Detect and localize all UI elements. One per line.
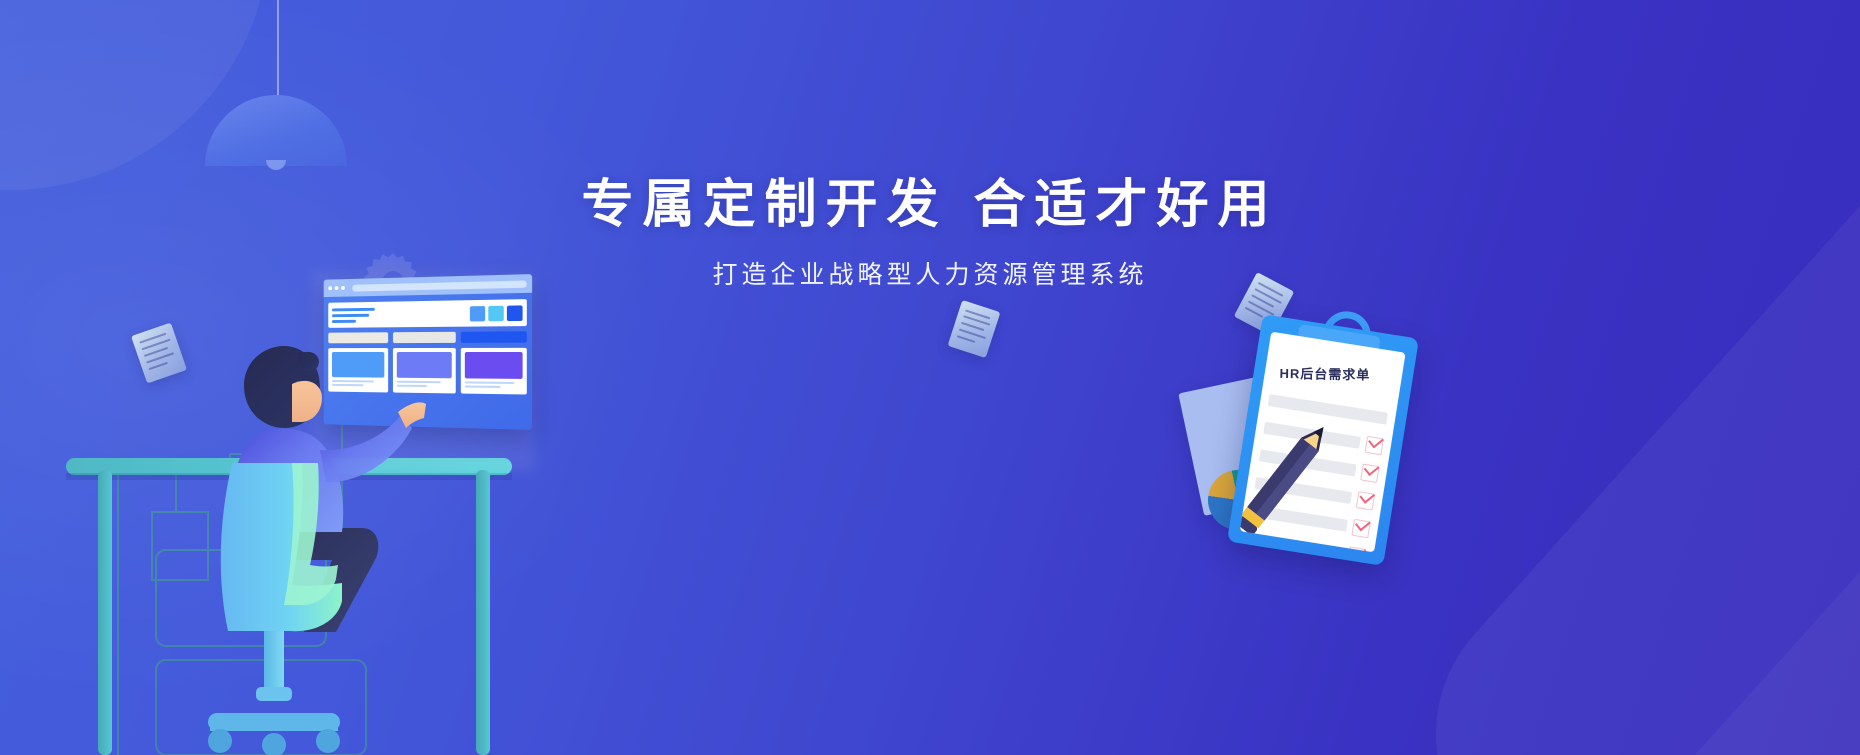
office-chair [196, 455, 396, 755]
clipboard-title: HR后台需求单 [1279, 363, 1387, 384]
document-icon [948, 300, 1001, 358]
clipboard-icon: HR后台需求单 [1227, 314, 1419, 566]
lamp-cord [277, 0, 279, 105]
tile-icon [470, 305, 485, 320]
desk-leg-left [98, 470, 112, 755]
desk-leg-right [476, 470, 490, 755]
hero-banner: HR后台需求单 [0, 0, 1860, 755]
tile-icon [488, 305, 503, 321]
check-icon[interactable] [1365, 435, 1384, 454]
window-dot-icon [341, 286, 345, 290]
window-dot-icon [335, 286, 339, 290]
card-line [465, 381, 514, 384]
hero-tiles [470, 305, 523, 321]
content-card [461, 348, 527, 395]
check-icon[interactable] [1351, 518, 1370, 537]
clipboard-illustration: HR后台需求单 [1190, 325, 1450, 610]
address-bar [352, 280, 527, 291]
document-sheet [948, 300, 1001, 358]
check-icon[interactable] [1360, 463, 1379, 482]
tile-icon [507, 305, 523, 321]
card-line [465, 385, 501, 387]
hero-row [328, 299, 527, 328]
checklist [1240, 389, 1397, 553]
hero-text-lines [332, 307, 375, 322]
mock-button-primary [461, 331, 527, 343]
window-dot-icon [328, 286, 332, 290]
card-thumb [465, 352, 523, 379]
check-icon[interactable] [1356, 491, 1375, 510]
headline-part-2: 合适才好用 [974, 176, 1279, 234]
